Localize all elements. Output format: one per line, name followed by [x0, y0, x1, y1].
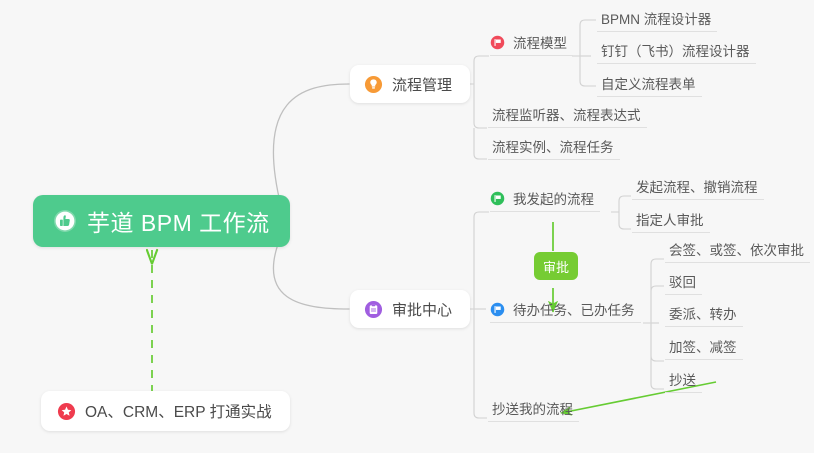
branch-label-approval-center: 审批中心	[392, 299, 452, 320]
floating-node-oa-crm-erp[interactable]: OA、CRM、ERP 打通实战	[41, 391, 290, 431]
node-reject[interactable]: 驳回	[665, 273, 702, 295]
label-custom-process-form: 自定义流程表单	[601, 78, 696, 92]
label-cc-to-me-process: 抄送我的流程	[492, 403, 573, 417]
node-my-initiated-process[interactable]: 我发起的流程	[490, 190, 600, 212]
node-todo-done-tasks[interactable]: 待办任务、已办任务	[490, 301, 641, 323]
branch-label-process-management: 流程管理	[392, 74, 452, 95]
label-my-initiated-process: 我发起的流程	[513, 193, 594, 207]
node-carbon-copy[interactable]: 抄送	[665, 371, 702, 393]
node-process-listener-expression[interactable]: 流程监听器、流程表达式	[488, 106, 647, 128]
label-add-remove-sign: 加签、减签	[669, 341, 737, 355]
label-process-model: 流程模型	[513, 37, 567, 51]
label-process-listener-expression: 流程监听器、流程表达式	[492, 109, 641, 123]
node-dingtalk-feishu-designer[interactable]: 钉钉（飞书）流程设计器	[597, 42, 756, 64]
mindmap-canvas: 芋道 BPM 工作流 流程管理 流程模型 BPMN 流程设计器 钉钉（飞书）流程…	[0, 0, 814, 453]
node-add-remove-sign[interactable]: 加签、减签	[665, 338, 743, 360]
label-dingtalk-feishu-designer: 钉钉（飞书）流程设计器	[601, 45, 750, 59]
label-todo-done-tasks: 待办任务、已办任务	[513, 304, 635, 318]
flag-icon	[490, 35, 505, 50]
label-bpmn-designer: BPMN 流程设计器	[601, 13, 711, 27]
label-countersign-orsign-sequential: 会签、或签、依次审批	[669, 244, 804, 258]
annotation-approval-tag: 审批	[534, 252, 578, 280]
label-reject: 驳回	[669, 276, 696, 290]
branch-node-approval-center[interactable]: 审批中心	[350, 290, 470, 328]
root-node[interactable]: 芋道 BPM 工作流	[33, 195, 290, 247]
flag-icon	[490, 302, 505, 317]
label-carbon-copy: 抄送	[669, 374, 696, 388]
annotation-approval-label: 审批	[543, 257, 569, 276]
lightbulb-pin-icon	[364, 75, 383, 94]
node-custom-process-form[interactable]: 自定义流程表单	[597, 75, 702, 97]
node-delegate-transfer[interactable]: 委派、转办	[665, 305, 743, 327]
branch-node-process-management[interactable]: 流程管理	[350, 65, 470, 103]
node-process-model[interactable]: 流程模型	[490, 34, 573, 56]
clipboard-icon	[364, 300, 383, 319]
flag-icon	[490, 191, 505, 206]
floating-node-label-oa-crm-erp: OA、CRM、ERP 打通实战	[85, 400, 272, 422]
node-process-instance-task[interactable]: 流程实例、流程任务	[488, 138, 620, 160]
label-start-cancel-process: 发起流程、撤销流程	[636, 181, 758, 195]
thumbs-up-icon	[53, 209, 77, 233]
node-assignee-approval[interactable]: 指定人审批	[632, 211, 710, 233]
label-delegate-transfer: 委派、转办	[669, 308, 737, 322]
label-assignee-approval: 指定人审批	[636, 214, 704, 228]
root-label: 芋道 BPM 工作流	[87, 204, 270, 238]
node-countersign-orsign-sequential[interactable]: 会签、或签、依次审批	[665, 241, 810, 263]
node-start-cancel-process[interactable]: 发起流程、撤销流程	[632, 178, 764, 200]
node-cc-to-me-process[interactable]: 抄送我的流程	[488, 400, 579, 422]
star-icon	[57, 402, 76, 421]
label-process-instance-task: 流程实例、流程任务	[492, 141, 614, 155]
node-bpmn-designer[interactable]: BPMN 流程设计器	[597, 10, 717, 32]
